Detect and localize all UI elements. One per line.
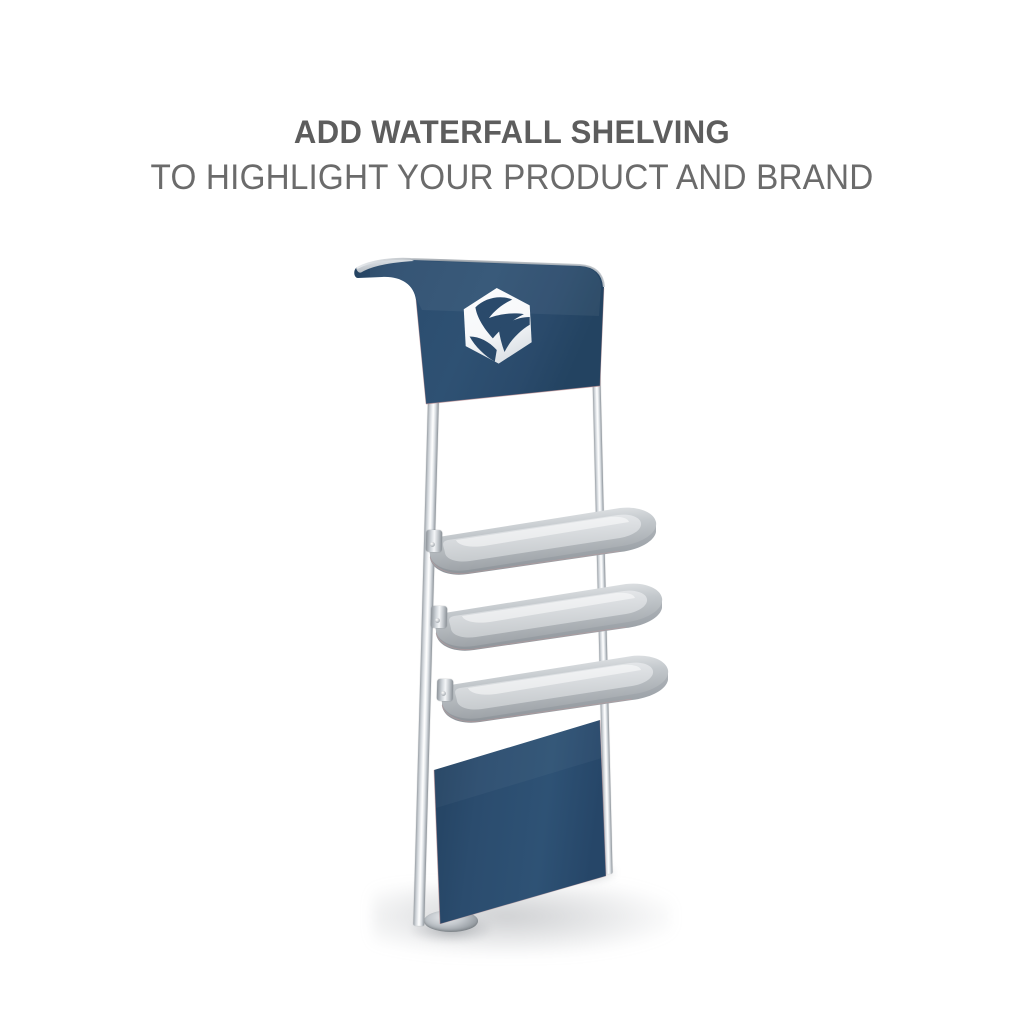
product-showcase-page: ADD WATERFALL SHELVING TO HIGHLIGHT YOUR… [0, 0, 1024, 1024]
waterfall-shelf-top [424, 502, 672, 588]
curved-navy-header-banner [348, 258, 610, 418]
shelf-bracket-middle [431, 606, 448, 628]
shelf-bracket-bottom [437, 679, 454, 701]
shelf-bracket-top [426, 530, 443, 552]
product-image [0, 0, 1024, 1024]
navy-base-graphic-panel [430, 718, 614, 930]
